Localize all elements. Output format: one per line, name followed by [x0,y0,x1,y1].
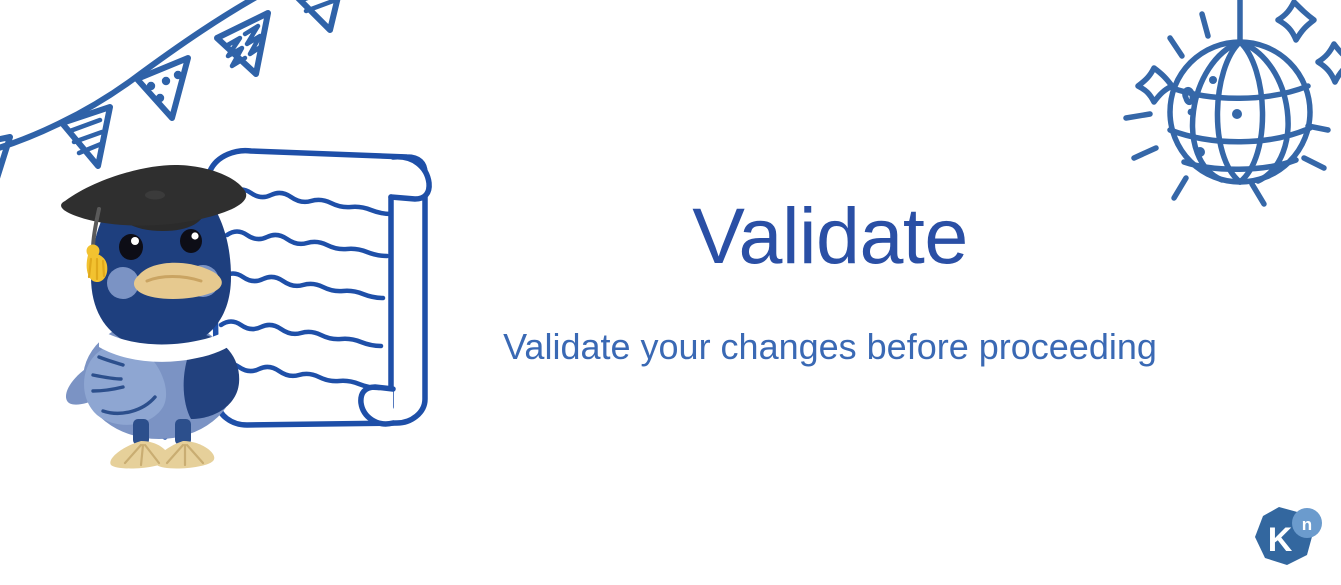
bunting-flag-plain [0,137,10,194]
bunting-flag-dots [137,58,188,118]
logo-letter-n: n [1302,515,1312,534]
bunting-flag-edge [292,0,344,30]
page-subtitle: Validate your changes before proceeding [360,324,1300,369]
killercoda-logo[interactable]: K n [1249,503,1325,575]
slide-canvas: Validate Validate your changes before pr… [0,0,1341,585]
bird-mascot [61,165,246,468]
page-title: Validate [360,196,1300,275]
bunting-flag-zigzag [217,13,268,74]
hero-text-block: Validate Validate your changes before pr… [360,196,1300,369]
logo-letter-k: K [1268,521,1293,559]
